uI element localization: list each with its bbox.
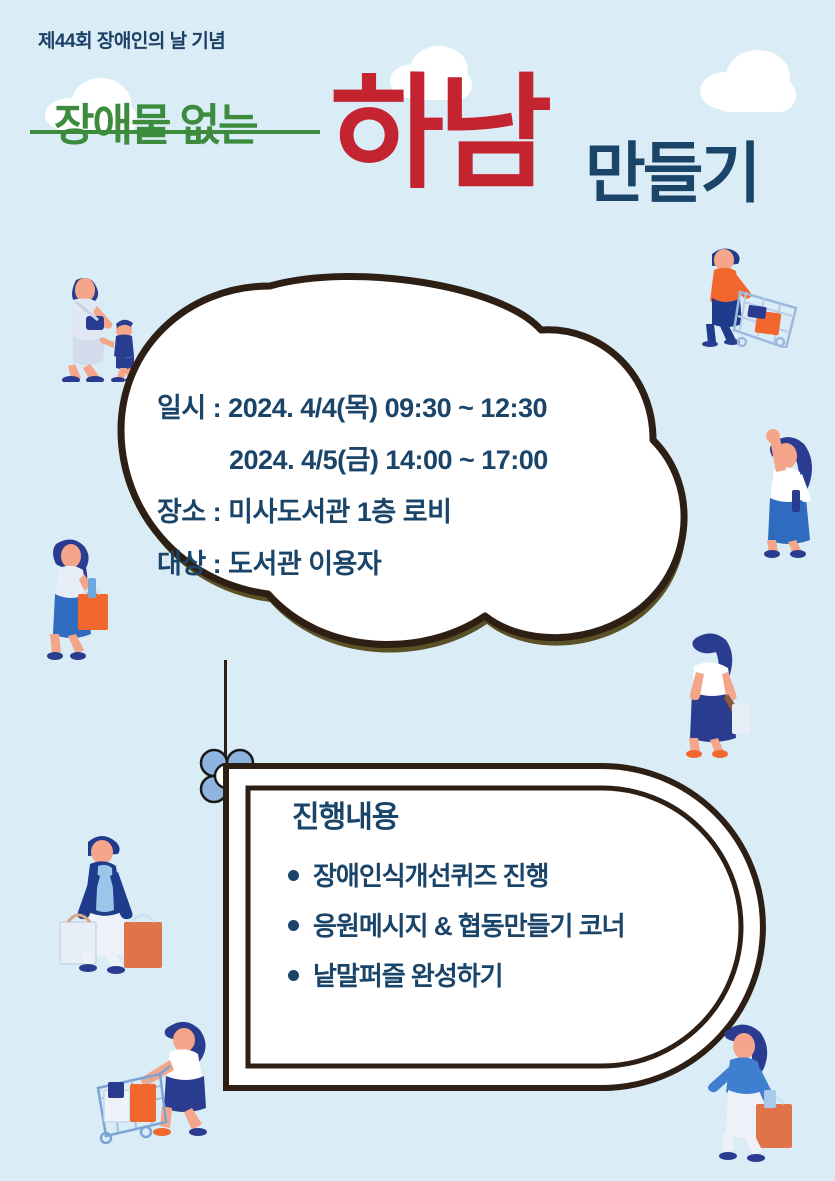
info-line-3: 대상 : 도서관 이용자 bbox=[157, 538, 677, 590]
info-cloud-bubble: 일시 : 2024. 4/4(목) 09:30 ~ 12:30 2024. 4/… bbox=[95, 272, 720, 692]
info-text-block: 일시 : 2024. 4/4(목) 09:30 ~ 12:30 2024. 4/… bbox=[157, 382, 677, 590]
headline: 장애물 없는 하남 만들기 bbox=[0, 80, 835, 240]
illustration-woman-with-orange-bag bbox=[698, 1016, 818, 1166]
illustration-woman-walking-back bbox=[666, 628, 766, 758]
program-inner: 진행내용 장애인식개선퀴즈 진행 응원메시지 & 협동만들기 코너 낱말퍼즐 완… bbox=[284, 792, 734, 1008]
program-item-label: 응원메시지 & 협동만들기 코너 bbox=[313, 908, 625, 944]
program-item-label: 낱말퍼즐 완성하기 bbox=[313, 958, 503, 994]
poster-canvas: 제44회 장애인의 날 기념 장애물 없는 하남 만들기 bbox=[0, 0, 835, 1181]
program-item: 장애인식개선퀴즈 진행 bbox=[284, 858, 734, 894]
illustration-woman-with-shopping-bag bbox=[26, 534, 126, 664]
emphasis-word: 하남 bbox=[330, 72, 546, 196]
struck-phrase: 장애물 없는 bbox=[54, 96, 257, 156]
suffix-word: 만들기 bbox=[585, 140, 758, 206]
illustration-woman-cheering bbox=[740, 418, 830, 558]
program-item-label: 장애인식개선퀴즈 진행 bbox=[313, 858, 548, 894]
struck-phrase-wrap: 장애물 없는 bbox=[30, 96, 330, 156]
illustration-woman-pushing-cart bbox=[84, 1012, 234, 1162]
bullet-dot-icon bbox=[288, 870, 299, 881]
bullet-dot-icon bbox=[288, 920, 299, 931]
program-title: 진행내용 bbox=[284, 792, 734, 836]
bullet-dot-icon bbox=[288, 970, 299, 981]
program-item: 응원메시지 & 협동만들기 코너 bbox=[284, 908, 734, 944]
info-line-1: 2024. 4/5(금) 14:00 ~ 17:00 bbox=[157, 434, 677, 486]
info-line-2: 장소 : 미사도서관 1층 로비 bbox=[157, 486, 677, 538]
program-item: 낱말퍼즐 완성하기 bbox=[284, 958, 734, 994]
program-content-box: 진행내용 장애인식개선퀴즈 진행 응원메시지 & 협동만들기 코너 낱말퍼즐 완… bbox=[222, 762, 767, 1092]
strikethrough-line bbox=[30, 130, 320, 134]
info-line-0: 일시 : 2024. 4/4(목) 09:30 ~ 12:30 bbox=[157, 382, 677, 434]
illustration-man-with-two-bags bbox=[46, 824, 176, 974]
kicker-text: 제44회 장애인의 날 기념 bbox=[38, 26, 225, 53]
